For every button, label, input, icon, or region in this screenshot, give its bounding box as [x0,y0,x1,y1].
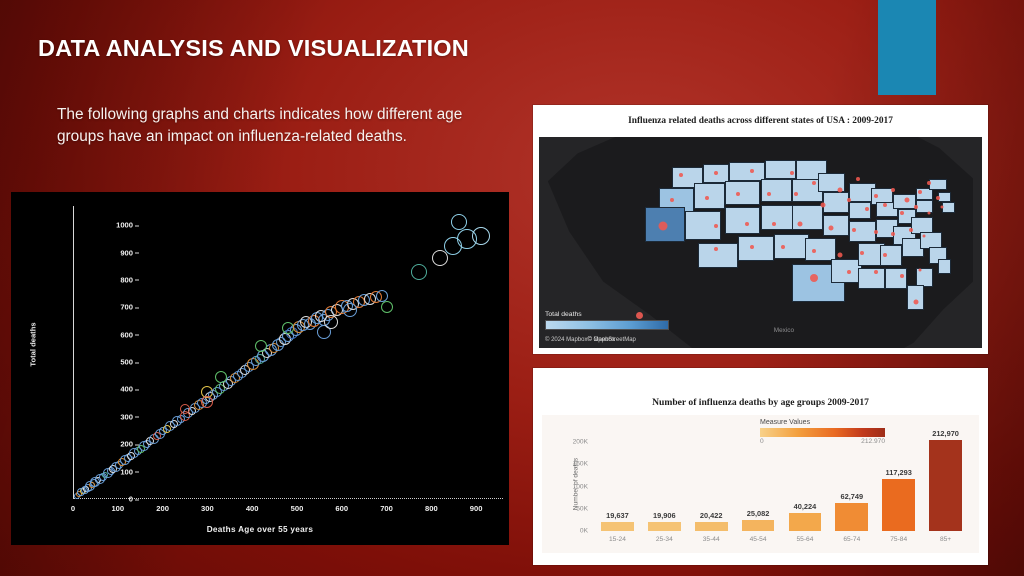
scatter-x-tick: 300 [201,504,214,513]
map-state-shape[interactable] [938,259,951,274]
map-value-bubble[interactable] [838,187,843,192]
map-state-shape[interactable] [694,183,725,208]
map-value-bubble[interactable] [847,198,851,202]
bar-rectangle[interactable] [929,440,962,531]
map-value-bubble[interactable] [856,177,860,181]
map-value-bubble[interactable] [829,225,834,230]
map-value-bubble[interactable] [918,190,922,194]
scatter-x-tick: 500 [291,504,304,513]
scatter-x-tick: 900 [470,504,483,513]
scatter-point [201,396,213,408]
map-value-bubble[interactable] [772,222,776,226]
scatter-point [255,340,267,352]
map-value-bubble[interactable] [810,274,818,282]
scatter-x-tick: 700 [380,504,393,513]
scatter-point [376,290,388,302]
map-value-bubble[interactable] [847,270,851,274]
bar-chart-canvas: Number of deaths Measure Values 0 212,97… [542,415,979,553]
map-attribution[interactable]: © 2024 Mapbox © OpenStreetMap © Mapbox [545,337,587,343]
bar-value-label: 40,224 [794,502,817,511]
bar-column[interactable]: 40,22455-64 [789,429,822,531]
map-value-bubble[interactable] [874,270,878,274]
map-value-bubble[interactable] [927,211,930,214]
bar-category-label: 65-74 [843,536,860,543]
bar-column[interactable]: 212,97085+ [929,429,962,531]
bar-rectangle[interactable] [835,503,868,531]
scatter-y-tick: 600 [120,330,133,339]
scatter-point [180,404,190,414]
scatter-point [282,322,294,334]
map-state-shape[interactable] [725,207,760,234]
scatter-y-axis-label: Total deaths [29,302,38,388]
map-state-shape[interactable] [765,160,796,179]
map-value-bubble[interactable] [670,198,674,202]
map-value-bubble[interactable] [918,268,921,271]
map-value-bubble[interactable] [852,228,856,232]
scatter-y-tick: 700 [120,303,133,312]
bar-plot-area: 0K50K100K150K200K19,63715-2419,90625-342… [594,429,969,531]
map-state-shape[interactable] [725,181,760,204]
bar-value-label: 212,970 [932,429,959,438]
map-state-shape[interactable] [929,179,947,190]
bar-category-label: 35-44 [703,536,720,543]
scatter-y-tick: 1000 [116,221,133,230]
bar-value-label: 62,749 [841,492,864,501]
map-state-shape[interactable] [761,179,792,202]
scatter-plot-area: 0100200300400500600700800900100001002003… [73,206,503,499]
map-value-bubble[interactable] [900,211,904,215]
map-value-bubble[interactable] [936,196,940,200]
scatter-x-tick: 800 [425,504,438,513]
scatter-x-tick: 400 [246,504,259,513]
bar-column[interactable]: 20,42235-44 [695,429,728,531]
bar-value-label: 19,637 [606,511,629,520]
map-value-bubble[interactable] [891,188,895,192]
map-legend: Total deaths [545,311,669,330]
map-value-bubble[interactable] [820,202,825,207]
map-state-shape[interactable] [849,221,876,242]
map-title: Influenza related deaths across differen… [533,116,988,126]
bar-column[interactable]: 62,74965-74 [835,429,868,531]
bar-category-label: 85+ [940,536,951,543]
map-value-bubble[interactable] [750,169,754,173]
bar-rectangle[interactable] [695,522,728,531]
map-attribution-mapbox: © 2024 Mapbox [545,337,587,343]
map-value-bubble[interactable] [812,181,816,185]
map-state-shape[interactable] [792,205,823,230]
map-value-bubble[interactable] [923,235,926,238]
bar-value-label: 25,082 [747,509,770,518]
bar-rectangle[interactable] [601,522,634,531]
scatter-point [343,303,357,317]
bar-column[interactable]: 19,63715-24 [601,429,634,531]
map-value-bubble[interactable] [904,198,909,203]
map-legend-marker-icon [636,312,643,319]
map-value-bubble[interactable] [714,247,718,251]
bar-chart-title: Number of influenza deaths by age groups… [533,397,988,408]
map-value-bubble[interactable] [909,228,913,232]
map-state-shape[interactable] [738,236,773,261]
scatter-y-tick: 800 [120,275,133,284]
bar-category-label: 75-84 [890,536,907,543]
map-value-bubble[interactable] [798,221,803,226]
map-value-bubble[interactable] [745,222,749,226]
bar-category-label: 45-54 [750,536,767,543]
scatter-point [324,315,338,329]
map-value-bubble[interactable] [812,249,816,253]
scatter-x-tick: 100 [111,504,124,513]
bar-rectangle[interactable] [742,520,775,531]
scatter-y-tick: 200 [120,440,133,449]
page-title: DATA ANALYSIS AND VISUALIZATION [38,35,469,62]
map-state-shape[interactable] [698,243,738,268]
map-value-bubble[interactable] [838,253,843,258]
bar-category-label: 55-64 [797,536,814,543]
scatter-point [472,227,490,245]
bar-value-label: 19,906 [653,511,676,520]
bar-y-tick: 0K [580,528,588,535]
bar-column[interactable]: 25,08245-54 [742,429,775,531]
measure-values-legend-title: Measure Values [760,419,885,426]
scatter-y-tick: 500 [120,358,133,367]
map-attribution-mapbox-alt: © Mapbox [587,337,614,343]
bar-y-tick: 200K [573,439,588,446]
scatter-x-axis-label: Deaths Age over 55 years [11,525,509,534]
map-value-bubble[interactable] [679,173,683,177]
accent-bar-decoration [878,0,936,95]
scatter-y-tick: 100 [120,467,133,476]
scatter-point [215,371,227,383]
map-value-bubble[interactable] [883,253,887,257]
map-value-bubble[interactable] [913,299,918,304]
map-value-bubble[interactable] [927,181,931,185]
map-canvas[interactable]: Mexico Total deaths © 2024 Mapbox © Open… [539,137,982,348]
scatter-point [381,301,393,313]
map-value-bubble[interactable] [736,192,740,196]
slide-body-text: The following graphs and charts indicate… [57,104,497,149]
map-value-bubble[interactable] [781,245,785,249]
scatter-y-tick: 300 [120,412,133,421]
bar-y-tick: 150K [573,461,588,468]
bar-column[interactable]: 117,29375-84 [882,429,915,531]
scatter-x-tick: 0 [71,504,75,513]
map-value-bubble[interactable] [941,205,944,208]
bar-y-tick: 100K [573,483,588,490]
map-value-bubble[interactable] [750,245,754,249]
bar-y-tick: 50K [576,505,588,512]
bar-rectangle[interactable] [648,522,681,531]
map-value-bubble[interactable] [865,207,869,211]
map-value-bubble[interactable] [767,192,771,196]
map-value-bubble[interactable] [860,251,864,255]
map-state-shape[interactable] [885,268,907,289]
map-state-shape[interactable] [849,202,871,219]
scatter-point [451,214,467,230]
map-state-shape[interactable] [805,238,836,261]
scatter-point [411,264,427,280]
map-value-bubble[interactable] [891,232,895,236]
map-value-bubble[interactable] [705,196,709,200]
scatter-y-tick: 400 [120,385,133,394]
bar-column[interactable]: 19,90625-34 [648,429,681,531]
map-value-bubble[interactable] [900,274,904,278]
scatter-y-tick: 900 [120,248,133,257]
bar-rectangle[interactable] [789,513,822,531]
map-state-shape[interactable] [823,192,850,213]
bar-rectangle[interactable] [882,479,915,531]
map-value-bubble[interactable] [659,221,668,230]
map-value-bubble[interactable] [914,205,918,209]
map-state-shape[interactable] [823,215,850,236]
map-place-label-mexico: Mexico [774,327,794,334]
map-state-shape[interactable] [907,285,925,310]
map-chart-panel[interactable]: Influenza related deaths across differen… [533,105,988,354]
slide-canvas: DATA ANALYSIS AND VISUALIZATION The foll… [0,0,1024,576]
bar-value-label: 117,293 [886,468,912,477]
map-state-shape[interactable] [916,200,934,213]
scatter-x-tick: 600 [335,504,348,513]
map-legend-title: Total deaths [545,311,669,318]
bar-value-label: 20,422 [700,511,723,520]
bar-category-label: 25-34 [656,536,673,543]
map-value-bubble[interactable] [874,230,878,234]
bar-category-label: 15-24 [609,536,626,543]
map-legend-gradient [545,320,669,330]
map-value-bubble[interactable] [883,203,887,207]
map-value-bubble[interactable] [794,192,798,196]
bar-chart-panel[interactable]: Number of influenza deaths by age groups… [533,368,988,565]
map-value-bubble[interactable] [714,224,718,228]
scatter-chart-panel[interactable]: Total deaths Deaths Age over 55 years 01… [11,192,509,545]
map-state-shape[interactable] [858,268,885,289]
map-value-bubble[interactable] [874,194,878,198]
map-value-bubble[interactable] [714,171,718,175]
scatter-y-tick: 0 [129,495,133,504]
scatter-x-tick: 200 [156,504,169,513]
map-value-bubble[interactable] [790,171,794,175]
map-state-shape[interactable] [942,202,955,213]
